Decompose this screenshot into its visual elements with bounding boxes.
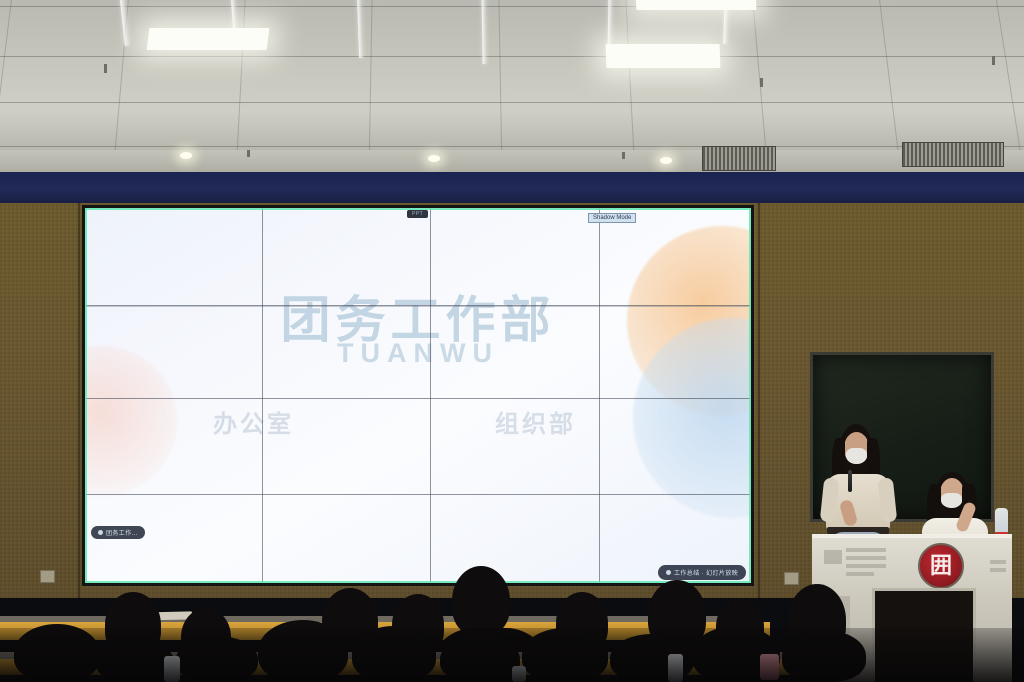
wall-outlet [40, 570, 55, 583]
audience-head [258, 620, 348, 682]
overlay-tab-ppt[interactable]: PPT [407, 210, 428, 218]
pink-cup [760, 654, 779, 680]
audience-head [176, 636, 258, 682]
podium-panel-inset [990, 568, 1006, 572]
upper-navy-band [0, 172, 1024, 206]
overlay-chip-bottom-left[interactable]: 团务工作... [91, 526, 145, 539]
panel-seam-horizontal [85, 398, 751, 399]
podium-panel-inset [846, 548, 886, 552]
audience-head [352, 626, 436, 682]
audience-head [452, 566, 510, 636]
wall-outlet [784, 572, 799, 585]
audience-head [522, 628, 608, 682]
overlay-tab-shadow-mode[interactable]: Shadow Mode [588, 213, 636, 223]
podium-panel-inset [846, 572, 874, 576]
chip-icon [98, 530, 103, 535]
chip-label: 工作总结 · 幻灯片放映 [674, 568, 738, 577]
emblem-mark: 囲 [930, 555, 952, 577]
slide-subtitle: TUANWU [85, 338, 751, 369]
audience-head [440, 636, 520, 682]
chip-icon [666, 570, 671, 575]
audience-head [782, 630, 866, 682]
screen-edge-highlight [749, 208, 751, 583]
ceiling-panel-light [606, 44, 721, 68]
podium-panel-inset [846, 556, 886, 560]
microphone [848, 470, 852, 492]
podium-emblem: 囲 [918, 543, 964, 589]
downlight [428, 155, 440, 162]
water-bottle [164, 656, 180, 682]
ceiling-panel-light [636, 0, 757, 10]
video-wall-display[interactable]: 团务工作部 TUANWU 办公室 组织部 PPT Shadow Mode 团务工… [85, 208, 751, 583]
presenter-face-mask [941, 493, 962, 508]
downlight [180, 152, 192, 159]
ceiling-panel-light [147, 28, 270, 50]
podium-panel-inset [824, 550, 842, 564]
slide-label-left: 办公室 [213, 404, 294, 439]
slide-label-right: 组织部 [495, 404, 576, 439]
panel-seam-vertical [262, 208, 263, 583]
overlay-chip-bottom-right[interactable]: 工作总结 · 幻灯片放映 [658, 565, 746, 580]
podium-panel-inset [846, 564, 886, 568]
screen-edge-highlight [85, 208, 87, 583]
ceiling [0, 0, 1024, 178]
screen-edge-highlight [85, 208, 751, 210]
chip-label: 团务工作... [106, 528, 138, 537]
hvac-vent [902, 142, 1004, 167]
lecture-hall-photo: 团务工作部 TUANWU 办公室 组织部 PPT Shadow Mode 团务工… [0, 0, 1024, 682]
panel-seam-horizontal [85, 494, 751, 495]
panel-seam-vertical [430, 208, 431, 583]
presenter-arm [878, 477, 898, 522]
water-bottle [668, 654, 683, 682]
panel-seam-vertical [599, 208, 600, 583]
podium-front-panel [872, 588, 976, 682]
presenter-face-mask [846, 448, 867, 464]
audience-head [96, 640, 174, 682]
hvac-vent [702, 146, 776, 171]
downlight [660, 157, 672, 164]
audience-head [14, 624, 100, 682]
water-bottle [512, 666, 526, 682]
podium-panel-inset [990, 560, 1006, 564]
screen-edge-highlight [85, 581, 751, 583]
